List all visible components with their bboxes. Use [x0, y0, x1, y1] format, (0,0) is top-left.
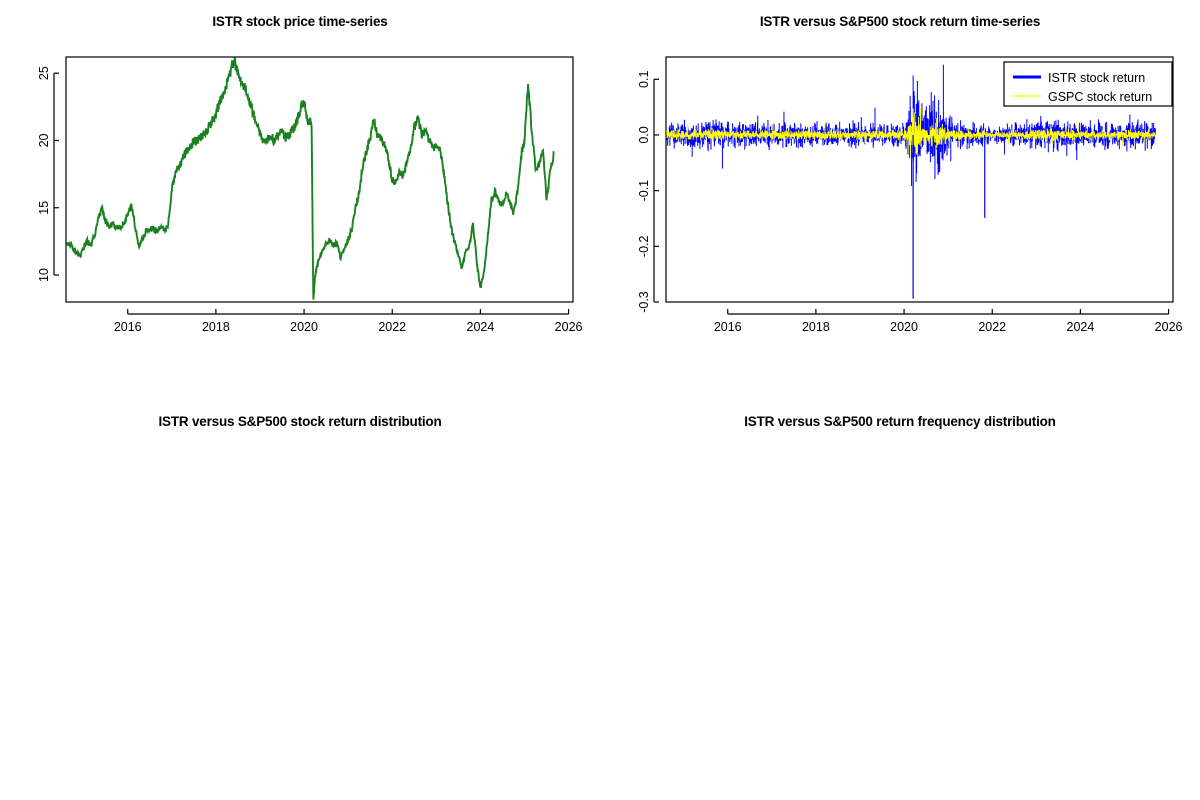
- panel-return-timeseries: ISTR versus S&P500 stock return time-ser…: [600, 0, 1200, 400]
- y-tick-label: 10: [37, 268, 51, 282]
- x-tick-label: 2016: [114, 320, 142, 334]
- price-timeseries-plot: 20162018202020222024202610152025: [0, 0, 600, 400]
- x-tick-label: 2018: [202, 320, 230, 334]
- x-tick-label: 2020: [890, 320, 918, 334]
- price-plot-box: [66, 57, 573, 302]
- y-tick-label: -0.3: [637, 291, 651, 313]
- figure-grid: ISTR stock price time-series 20162018202…: [0, 0, 1200, 800]
- x-tick-label: 2024: [1067, 320, 1095, 334]
- x-tick-label: 2020: [290, 320, 318, 334]
- y-tick-label: -0.1: [637, 180, 651, 202]
- legend-entry-label: ISTR stock return: [1048, 71, 1145, 85]
- legend-entry-label: GSPC stock return: [1048, 90, 1152, 104]
- x-tick-label: 2026: [555, 320, 583, 334]
- return-ts-x-axis: 201620182020202220242026: [714, 309, 1183, 334]
- panel-return-distribution: ISTR versus S&P500 stock return distribu…: [0, 400, 600, 800]
- return-distribution-plot: -0.3-0.2-0.10.00.10102030405060ISTR retu…: [0, 400, 600, 800]
- y-tick-label: 20: [37, 133, 51, 147]
- price-y-axis: 10152025: [37, 66, 59, 282]
- return-frequency-plot: 02004006008001000frequencyreturn[-0.292,…: [600, 400, 1200, 800]
- return-timeseries-plot: 201620182020202220242026-0.3-0.2-0.10.00…: [600, 0, 1200, 400]
- x-tick-label: 2022: [378, 320, 406, 334]
- y-tick-label: 0.0: [637, 126, 651, 143]
- y-tick-label: 0.1: [637, 71, 651, 88]
- panel-return-frequency: ISTR versus S&P500 return frequency dist…: [600, 400, 1200, 800]
- panel-price-timeseries: ISTR stock price time-series 20162018202…: [0, 0, 600, 400]
- istr-price-line: [67, 58, 554, 300]
- x-tick-label: 2024: [467, 320, 495, 334]
- x-tick-label: 2026: [1155, 320, 1183, 334]
- x-tick-label: 2022: [978, 320, 1006, 334]
- return-ts-legend: ISTR stock returnGSPC stock return: [1004, 62, 1172, 106]
- return-ts-y-axis: -0.3-0.2-0.10.00.1: [637, 71, 659, 313]
- x-tick-label: 2018: [802, 320, 830, 334]
- y-tick-label: -0.2: [637, 236, 651, 258]
- price-x-axis: 201620182020202220242026: [114, 309, 583, 334]
- x-tick-label: 2016: [714, 320, 742, 334]
- y-tick-label: 25: [37, 66, 51, 80]
- y-tick-label: 15: [37, 201, 51, 215]
